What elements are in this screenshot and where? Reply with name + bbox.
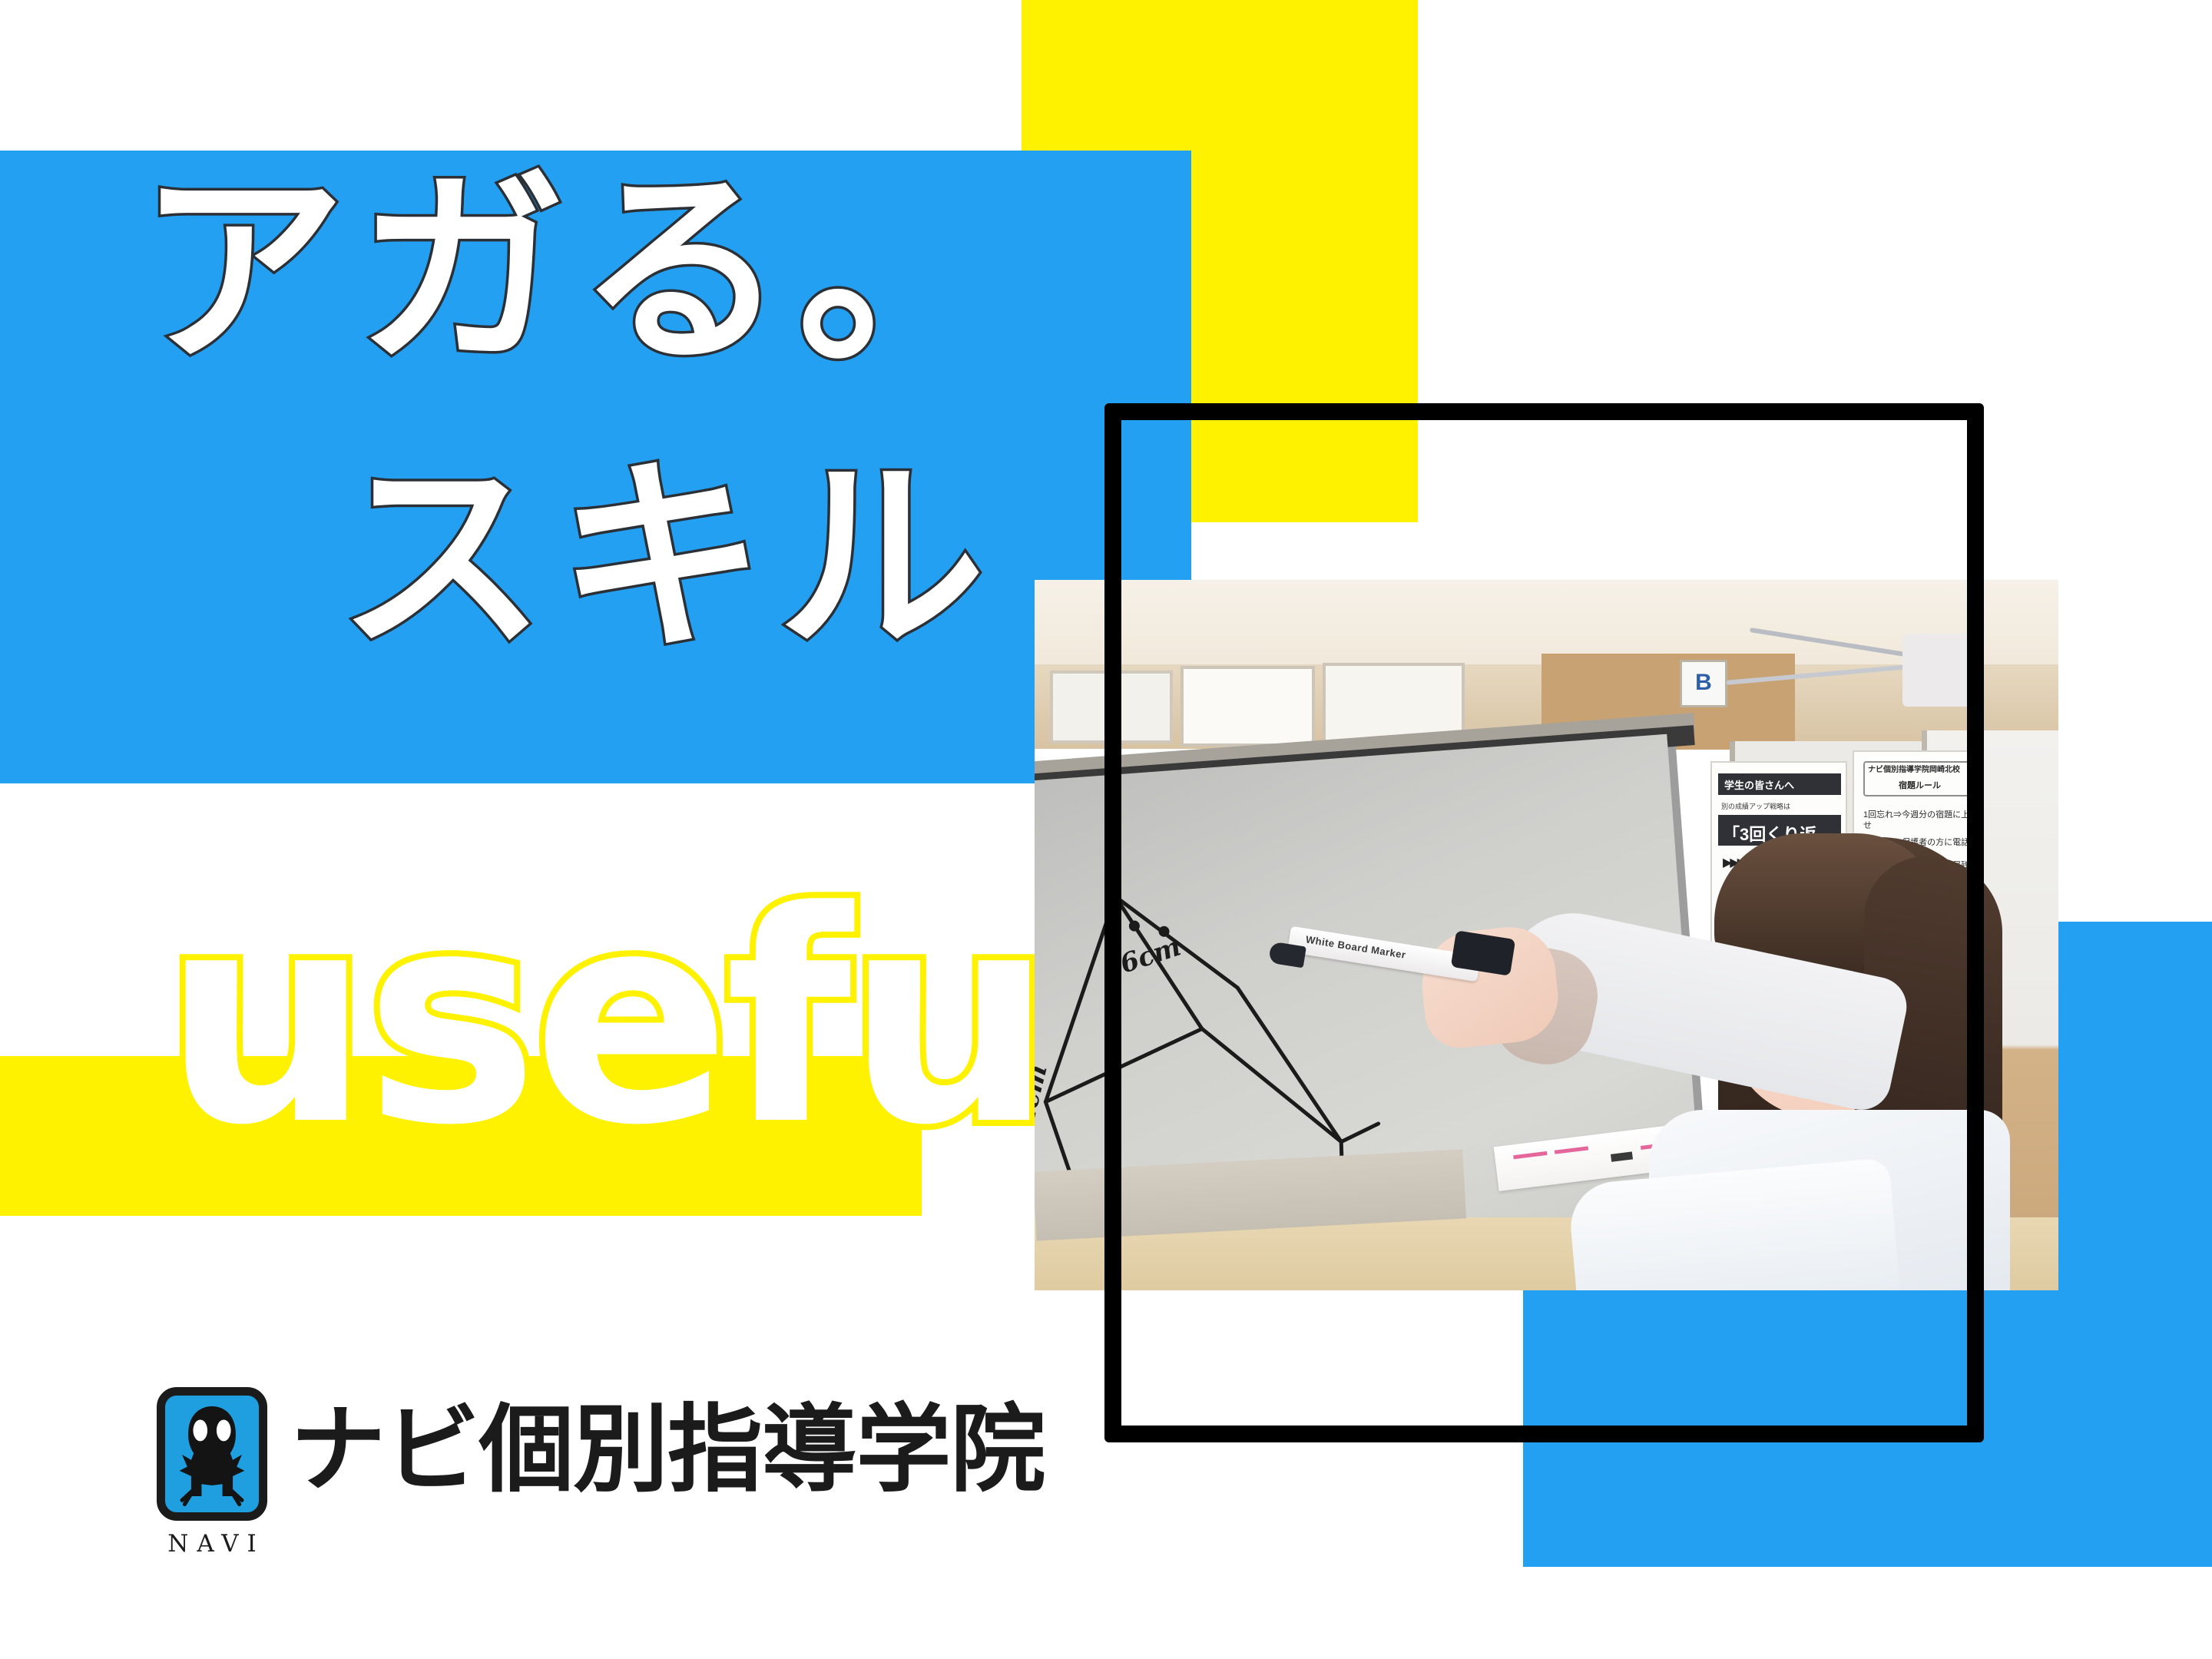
headline-line-1: アガる。	[138, 167, 1018, 375]
poster-study-subheading: 別の成績アップ戦略は	[1721, 803, 1790, 811]
photo-room-sign: B	[1680, 660, 1727, 707]
logo-mark-caption: NAVI	[157, 1530, 267, 1558]
classroom-photo: B	[1035, 580, 2058, 1290]
poster-rules-title-1: ナビ個別指導学院岡崎北校	[1868, 766, 1960, 776]
poster-study-heading: 学生の皆さんへ	[1724, 777, 1794, 792]
photo-power-adapter	[1902, 634, 1972, 707]
photo-small-board-a	[1050, 671, 1173, 743]
poster-rules-title-2: 宿題ルール	[1899, 781, 1941, 792]
poster-canvas: アガる。 スキル useful B	[0, 0, 2212, 1659]
navi-mascot-icon	[157, 1387, 267, 1521]
logo-mark-wrapper: NAVI	[157, 1387, 267, 1558]
headline-line-2: スキル	[338, 455, 998, 662]
brand-logo: NAVI ナビ個別指導学院	[157, 1387, 1045, 1558]
poster-rule-1: 1回忘れ⇒今週分の宿題に上乗せ	[1863, 810, 1980, 832]
accent-word-useful: useful	[163, 873, 1142, 1165]
photo-small-board-b	[1181, 666, 1315, 747]
brand-name-text: ナビ個別指導学院	[290, 1399, 1045, 1502]
photo-room-sign-letter: B	[1682, 670, 1725, 696]
